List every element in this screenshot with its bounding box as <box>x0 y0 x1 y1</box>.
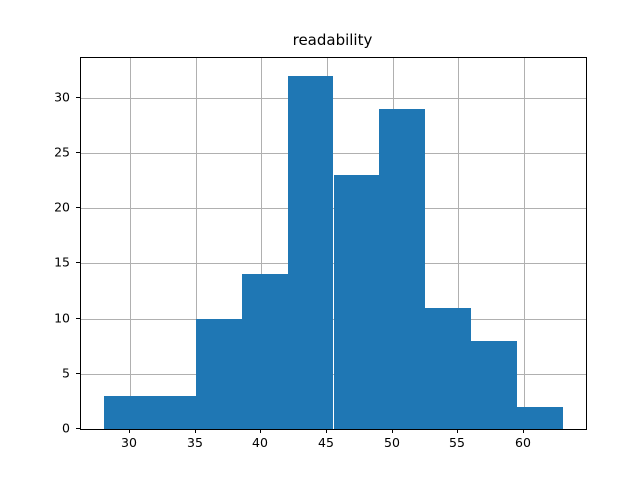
x-axis-tick-label: 50 <box>384 435 400 450</box>
y-axis-tick-label: 0 <box>0 421 70 436</box>
y-axis-tick <box>76 152 80 153</box>
histogram-bar <box>288 76 334 429</box>
x-axis-tick <box>195 429 196 433</box>
y-axis-tick <box>76 97 80 98</box>
x-axis-tick <box>523 429 524 433</box>
figure-canvas: readability 30354045505560051015202530 <box>0 0 640 480</box>
gridline-vertical <box>130 58 131 429</box>
y-axis-tick <box>76 318 80 319</box>
x-axis-tick-label: 55 <box>449 435 465 450</box>
y-axis-tick-label: 10 <box>0 311 70 326</box>
x-axis-tick <box>129 429 130 433</box>
x-axis-tick-label: 40 <box>252 435 268 450</box>
y-axis-tick-label: 5 <box>0 366 70 381</box>
gridline-vertical <box>524 58 525 429</box>
histogram-bar <box>471 341 517 429</box>
page-title: readability <box>80 31 585 49</box>
x-axis-tick <box>457 429 458 433</box>
y-axis-tick <box>76 373 80 374</box>
histogram-bar <box>150 396 196 429</box>
histogram-bar <box>104 396 150 429</box>
gridline-horizontal <box>81 153 586 154</box>
plot-area <box>80 57 587 430</box>
x-axis-tick-label: 35 <box>187 435 203 450</box>
x-axis-tick-label: 60 <box>515 435 531 450</box>
x-axis-tick <box>392 429 393 433</box>
y-axis-tick <box>76 428 80 429</box>
x-axis-tick-label: 45 <box>318 435 334 450</box>
y-axis-tick <box>76 262 80 263</box>
x-axis-tick <box>326 429 327 433</box>
y-axis-tick-label: 15 <box>0 255 70 270</box>
y-axis-tick <box>76 207 80 208</box>
histogram-bar <box>425 308 471 429</box>
histogram-bar <box>334 175 380 429</box>
histogram-bar <box>379 109 425 429</box>
x-axis-tick <box>260 429 261 433</box>
x-axis-tick-label: 30 <box>121 435 137 450</box>
y-axis-tick-label: 20 <box>0 200 70 215</box>
plot-inner <box>81 58 586 429</box>
y-axis-tick-label: 30 <box>0 90 70 105</box>
histogram-bar <box>242 274 288 429</box>
y-axis-tick-label: 25 <box>0 145 70 160</box>
gridline-horizontal <box>81 98 586 99</box>
histogram-bar <box>196 319 242 429</box>
histogram-bar <box>517 407 563 429</box>
